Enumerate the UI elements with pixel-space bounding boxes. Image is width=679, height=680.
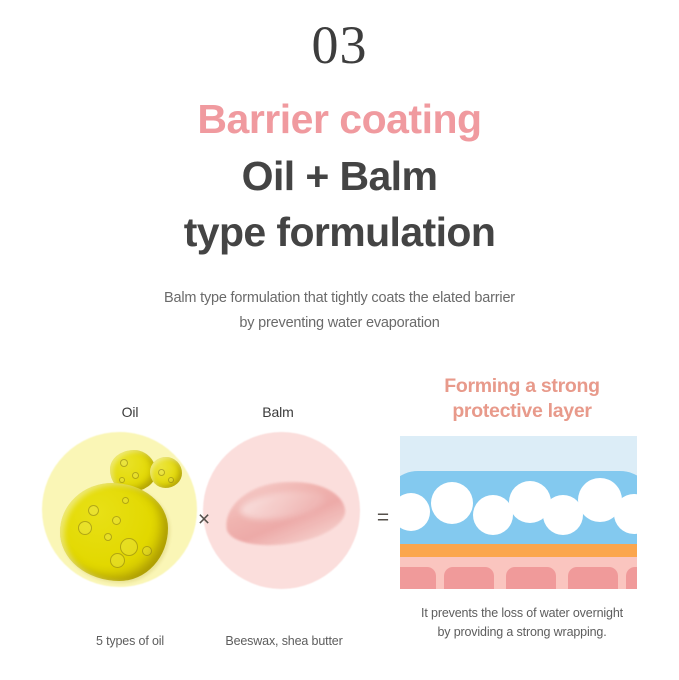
skin-cell (400, 567, 436, 589)
balm-caption: Beeswax, shea butter (196, 632, 372, 650)
subcopy-line-2: by preventing water evaporation (0, 311, 679, 336)
result-caption-line-2: by providing a strong wrapping. (382, 623, 662, 642)
equals-symbol: = (372, 507, 394, 528)
lipid-layer (400, 544, 637, 557)
oil-bubble (132, 472, 139, 479)
water-droplet (473, 495, 513, 535)
result-caption: It prevents the loss of water overnight … (382, 604, 662, 642)
oil-bubble (104, 533, 112, 541)
formula-illustration: Oil Balm × = 5 types of oil Beeswax, (0, 370, 679, 680)
water-droplet (543, 495, 583, 535)
oil-droplet-large (60, 483, 168, 581)
oil-bubble (122, 497, 129, 504)
oil-bubble (158, 469, 165, 476)
skin-cell (506, 567, 556, 589)
oil-bubble (120, 538, 138, 556)
oil-bubble (119, 477, 125, 483)
skin-cell (626, 567, 637, 589)
subcopy-line-1: Balm type formulation that tightly coats… (0, 286, 679, 311)
balm-label: Balm (233, 403, 323, 421)
headline-pink: Barrier coating (0, 94, 679, 144)
result-title: Forming a strong protective layer (393, 374, 651, 424)
oil-bubble (168, 477, 174, 483)
oil-bubble (88, 505, 99, 516)
oil-caption: 5 types of oil (55, 632, 205, 650)
oil-bubble (142, 546, 152, 556)
result-title-line-2: protective layer (393, 399, 651, 424)
oil-bubble (110, 553, 125, 568)
result-caption-line-1: It prevents the loss of water overnight (382, 604, 662, 623)
subcopy: Balm type formulation that tightly coats… (0, 286, 679, 336)
headline-dark-line-1: Oil + Balm (0, 148, 679, 204)
oil-label: Oil (85, 403, 175, 421)
times-symbol: × (193, 509, 215, 530)
step-number: 03 (0, 14, 679, 76)
headline-dark: Oil + Balm type formulation (0, 148, 679, 260)
oil-droplet-tiny (150, 457, 182, 488)
headline-dark-line-2: type formulation (0, 204, 679, 260)
skin-cell (568, 567, 618, 589)
oil-bubble (112, 516, 121, 525)
skin-cell (444, 567, 494, 589)
result-title-line-1: Forming a strong (393, 374, 651, 399)
skin-layer-diagram (400, 436, 637, 589)
water-droplet (431, 482, 473, 524)
oil-bubble (78, 521, 92, 535)
promo-page: 03 Barrier coating Oil + Balm type formu… (0, 0, 679, 680)
oil-bubble (120, 459, 128, 467)
